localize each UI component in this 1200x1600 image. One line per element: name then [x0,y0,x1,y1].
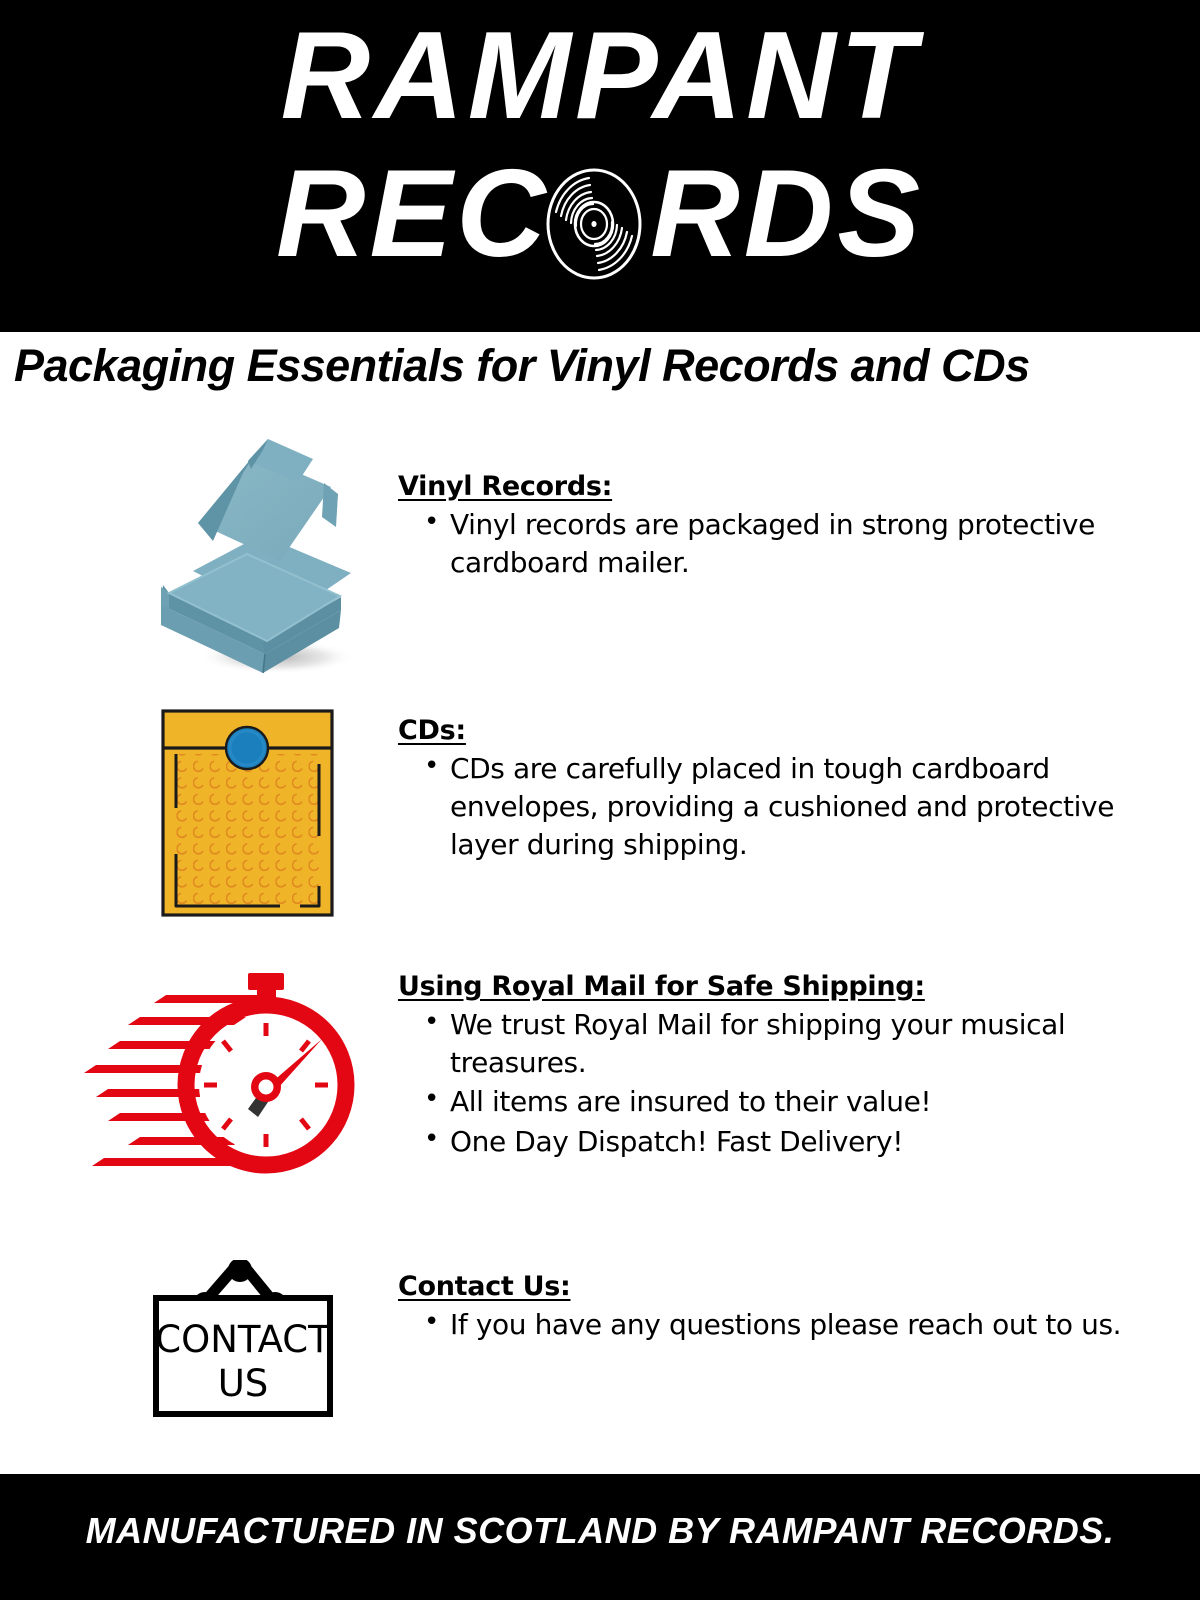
section-cds: CDs: CDs are carefully placed in tough c… [0,700,1200,930]
section-contact-icon-area: CONTACT US [0,1250,380,1420]
contact-sign-line-2: US [218,1362,269,1405]
fast-stopwatch-icon [78,955,358,1185]
section-vinyl-icon-area [0,430,380,680]
section-contact-bullets: If you have any questions please reach o… [398,1306,1188,1344]
page-subtitle: Packaging Essentials for Vinyl Records a… [14,340,1189,392]
logo-line-records: RECORDS [0,152,1200,276]
section-royal-bullets: We trust Royal Mail for shipping your mu… [398,1006,1188,1161]
header-banner: RAMPANT RECORDS [0,0,1200,332]
section-cds-icon-area [0,700,380,930]
list-item: All items are insured to their value! [450,1083,1188,1121]
list-item: We trust Royal Mail for shipping your mu… [450,1006,1188,1083]
section-contact-heading: Contact Us: [398,1270,1188,1304]
contact-sign-line-1: CONTACT [155,1318,331,1361]
section-vinyl-heading: Vinyl Records: [398,470,1188,504]
logo-line-rampant: RAMPANT [0,14,1200,138]
footer-text: MANUFACTURED IN SCOTLAND BY RAMPANT RECO… [0,1510,1200,1552]
section-contact-text: Contact Us: If you have any questions pl… [398,1270,1188,1345]
section-vinyl-text: Vinyl Records: Vinyl records are package… [398,470,1188,583]
section-royal-icon-area [0,955,380,1195]
padded-envelope-icon [160,708,335,918]
section-vinyl-bullets: Vinyl records are packaged in strong pro… [398,506,1188,583]
section-cds-bullets: CDs are carefully placed in tough cardbo… [398,750,1188,865]
list-item: If you have any questions please reach o… [450,1306,1188,1344]
cardboard-mailer-box-icon [135,425,380,675]
section-royal-text: Using Royal Mail for Safe Shipping: We t… [398,970,1188,1162]
contact-us-sign-icon: CONTACT US [148,1260,338,1420]
list-item: One Day Dispatch! Fast Delivery! [450,1123,1188,1161]
list-item: Vinyl records are packaged in strong pro… [450,506,1188,583]
section-vinyl-records: Vinyl Records: Vinyl records are package… [0,430,1200,680]
logo-records-suffix: RDS [650,145,924,283]
section-contact-us: CONTACT US Contact Us: If you have any q… [0,1250,1200,1420]
section-royal-mail: Using Royal Mail for Safe Shipping: We t… [0,955,1200,1195]
section-cds-text: CDs: CDs are carefully placed in tough c… [398,714,1188,866]
section-cds-heading: CDs: [398,714,1188,748]
logo-records-prefix: REC [276,145,550,283]
section-royal-heading: Using Royal Mail for Safe Shipping: [398,970,1188,1004]
footer-banner: MANUFACTURED IN SCOTLAND BY RAMPANT RECO… [0,1474,1200,1600]
list-item: CDs are carefully placed in tough cardbo… [450,750,1188,865]
